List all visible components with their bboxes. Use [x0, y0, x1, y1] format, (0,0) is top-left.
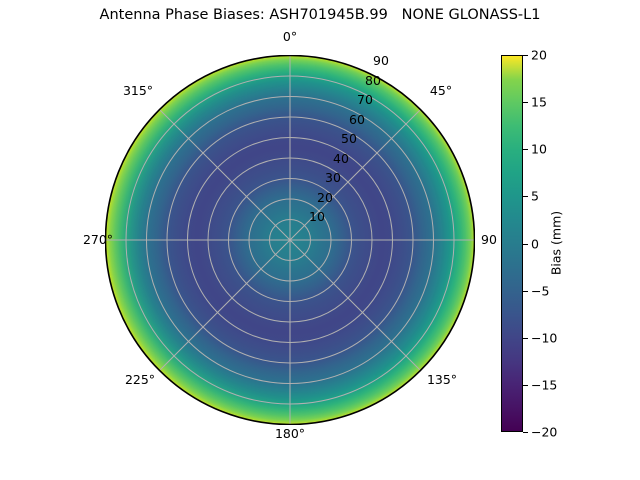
angular-tick-0: 0° — [260, 29, 320, 44]
colorbar-tick-label-m15: −15 — [531, 377, 557, 392]
colorbar-tick-mark — [523, 338, 528, 339]
polar-grid-spokes — [106, 56, 475, 425]
figure-canvas: Antenna Phase Biases: ASH701945B.99 NONE… — [0, 0, 640, 480]
colorbar-tick-mark — [523, 291, 528, 292]
radial-tick-10: 10 — [302, 209, 332, 224]
radial-tick-30: 30 — [318, 170, 348, 185]
colorbar-tick-label-m5: −5 — [531, 283, 549, 298]
radial-tick-70: 70 — [350, 92, 380, 107]
colorbar-tick-mark — [523, 196, 528, 197]
radial-tick-40: 40 — [326, 151, 356, 166]
angular-tick-225: 225° — [105, 372, 175, 387]
colorbar-tick-label-m10: −10 — [531, 330, 557, 345]
colorbar-tick-label-15: 15 — [531, 95, 547, 110]
colorbar-tick-label-20: 20 — [531, 48, 547, 63]
colorbar-tick-mark — [523, 102, 528, 103]
colorbar-tick-label-0: 0 — [531, 236, 539, 251]
colorbar-tick-mark — [523, 385, 528, 386]
angular-tick-45: 45° — [411, 83, 471, 98]
colorbar-tick-label-5: 5 — [531, 189, 539, 204]
radial-tick-20: 20 — [310, 190, 340, 205]
radial-tick-60: 60 — [342, 112, 372, 127]
colorbar-axis-label: Bias (mm) — [549, 211, 564, 275]
colorbar-tick-mark — [523, 55, 528, 56]
colorbar-tick-label-m20: −20 — [531, 425, 557, 440]
colorbar-gradient — [501, 55, 523, 432]
colorbar-tick-mark — [523, 432, 528, 433]
polar-axes: 0° 45° 90 135° 180° 225° 270° 315° 10 20… — [105, 55, 475, 425]
radial-tick-80: 80 — [358, 73, 388, 88]
radial-tick-50: 50 — [334, 131, 364, 146]
polar-plot-svg — [105, 55, 475, 425]
colorbar-axes: 20 15 10 5 0 −5 −10 −15 −20 — [501, 55, 523, 432]
angular-tick-180: 180° — [255, 426, 325, 441]
page-title: Antenna Phase Biases: ASH701945B.99 NONE… — [0, 7, 640, 23]
angular-tick-135: 135° — [407, 372, 477, 387]
radial-tick-90: 90 — [366, 53, 396, 68]
colorbar-tick-mark — [523, 149, 528, 150]
angular-tick-315: 315° — [103, 83, 173, 98]
colorbar-tick-label-10: 10 — [531, 142, 547, 157]
colorbar-tick-mark — [523, 244, 528, 245]
angular-tick-270: 270° — [63, 232, 133, 247]
